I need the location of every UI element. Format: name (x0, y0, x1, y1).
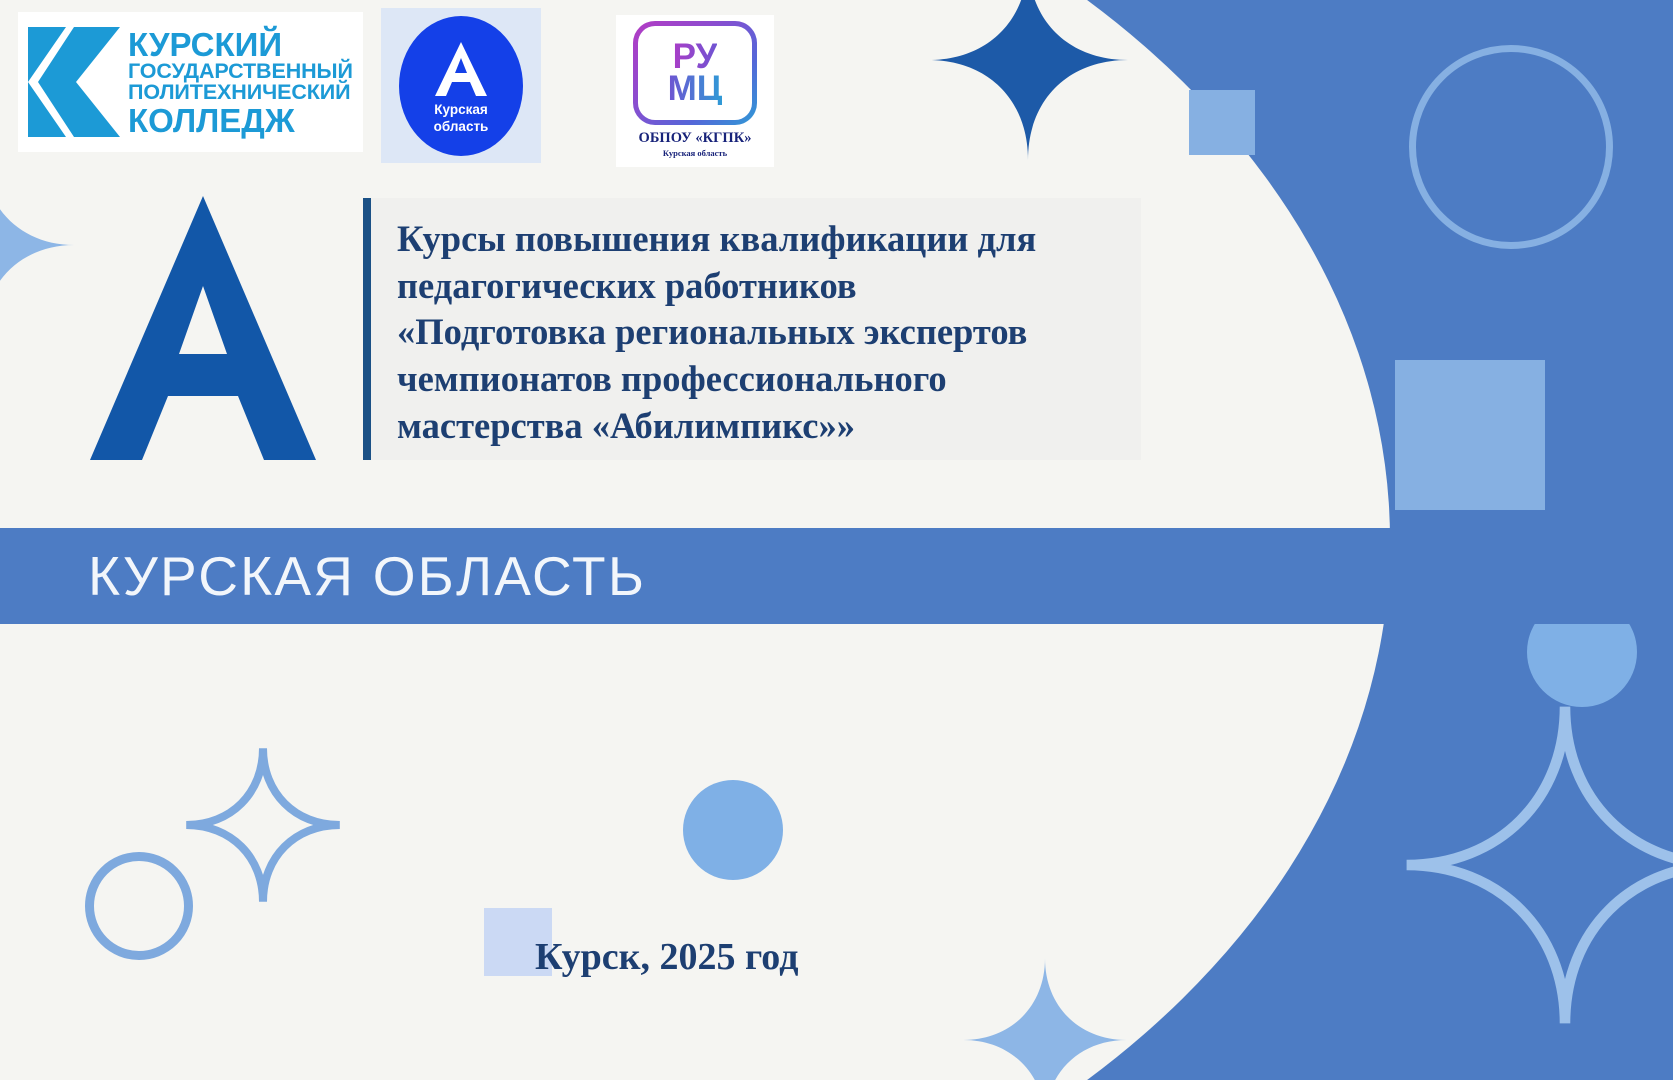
sparkle-icon-bottom-left (183, 745, 343, 905)
kgpk-logo: КУРСКИЙ ГОСУДАРСТВЕННЫЙ ПОЛИТЕХНИЧЕСКИЙ … (18, 12, 363, 152)
abilympics-a-icon (78, 188, 328, 468)
region-banner: КУРСКАЯ ОБЛАСТЬ (0, 528, 1673, 624)
rumc-caption: ОБПОУ «КГПК» (639, 130, 752, 147)
decorative-circle-outline-top-right (1409, 45, 1613, 249)
decorative-square-mid-right (1395, 360, 1545, 510)
kgpk-wordmark: КУРСКИЙ ГОСУДАРСТВЕННЫЙ ПОЛИТЕХНИЧЕСКИЙ … (128, 28, 353, 137)
rumc-logo: РУ МЦ ОБПОУ «КГПК» Курская область (616, 15, 774, 167)
rumc-gradient-frame: РУ МЦ (633, 21, 757, 125)
kgpk-line-1: КУРСКИЙ (128, 28, 353, 61)
title-line-1: Курсы повышения квалификации для (397, 216, 1036, 263)
kgpk-line-2: ГОСУДАРСТВЕННЫЙ (128, 61, 353, 83)
rumc-subcaption: Курская область (663, 148, 727, 158)
page-title: Курсы повышения квалификации для педагог… (371, 198, 1048, 460)
abilympics-a-small-icon (433, 40, 489, 98)
title-line-2: педагогических работников (397, 263, 1036, 310)
sparkle-icon-bottom-center (960, 955, 1130, 1080)
decorative-square-top-right (1189, 90, 1255, 155)
logo-row: КУРСКИЙ ГОСУДАРСТВЕННЫЙ ПОЛИТЕХНИЧЕСКИЙ … (0, 0, 900, 180)
decorative-circle-outline-bottom-left (85, 852, 193, 960)
region-circle: Курская область (399, 16, 523, 156)
decorative-circle-filled-bottom (683, 780, 783, 880)
title-block: Курсы повышения квалификации для педагог… (363, 198, 1141, 460)
rumc-inner: РУ МЦ (638, 26, 752, 120)
abilympics-region-logo: Курская область (381, 8, 541, 163)
title-line-4: чемпионатов профессионального (397, 356, 1036, 403)
slide-canvas: КУРСКАЯ ОБЛАСТЬ КУРСКИЙ ГОСУДАРСТВЕННЫЙ … (0, 0, 1673, 1080)
footer-location-year: Курск, 2025 год (535, 935, 798, 979)
rumc-line-2: МЦ (668, 73, 723, 105)
kgpk-chevron-icon (24, 23, 124, 141)
title-line-5: мастерства «Абилимпикс»» (397, 403, 1036, 450)
region-line-1: Курская (434, 102, 487, 119)
title-accent-bar (363, 198, 371, 460)
kgpk-line-4: КОЛЛЕДЖ (128, 104, 353, 137)
region-banner-label: КУРСКАЯ ОБЛАСТЬ (88, 544, 646, 608)
region-line-2: область (434, 119, 489, 136)
title-line-3: «Подготовка региональных экспертов (397, 309, 1036, 356)
sparkle-icon-top (928, 0, 1128, 160)
sparkle-icon-bottom-right (1400, 700, 1673, 1030)
kgpk-line-3: ПОЛИТЕХНИЧЕСКИЙ (128, 82, 353, 104)
